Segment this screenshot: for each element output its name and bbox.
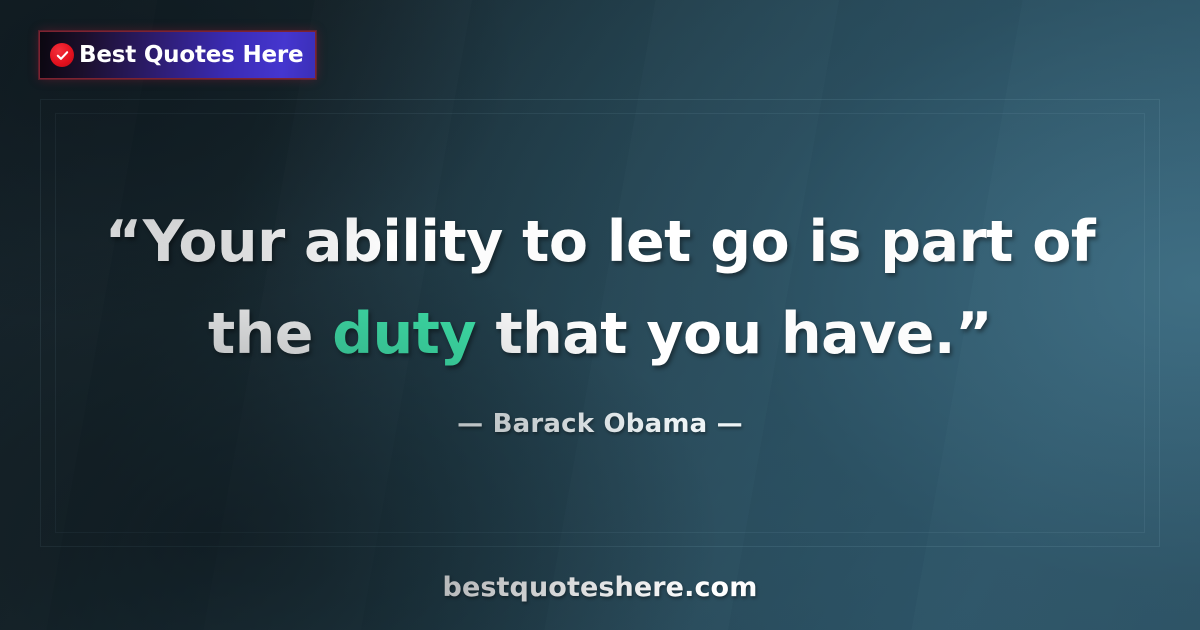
brand-badge-label: Best Quotes Here xyxy=(79,44,303,67)
quote-block: “Your ability to let go is part of the d… xyxy=(0,196,1200,380)
verified-check-icon xyxy=(50,43,74,67)
quote-attribution: — Barack Obama — xyxy=(0,407,1200,441)
quote-highlight-word: duty xyxy=(332,301,476,367)
quote-line-2-after: that you have.” xyxy=(476,301,992,367)
quote-line-2-before: the xyxy=(208,301,332,367)
site-url: bestquoteshere.com xyxy=(0,570,1200,606)
quote-card-canvas: Best Quotes Here “Your ability to let go… xyxy=(0,0,1200,630)
quote-line-2: the duty that you have.” xyxy=(0,288,1200,380)
quote-line-1: “Your ability to let go is part of xyxy=(0,196,1200,288)
brand-badge[interactable]: Best Quotes Here xyxy=(39,31,316,79)
